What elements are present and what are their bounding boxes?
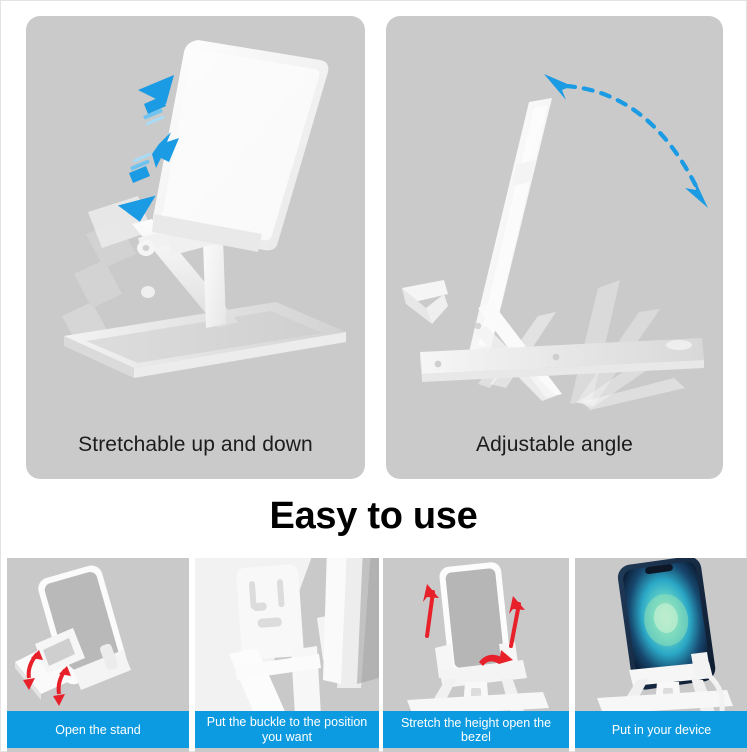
step-label-1: Put the buckle to the position you want <box>195 711 379 748</box>
blue-arc-arrowheads <box>544 74 708 208</box>
step-label-2: Stretch the height open the bezel <box>383 711 569 748</box>
feature-caption-adjustable: Adjustable angle <box>386 433 723 457</box>
stand-folding-open-icon <box>7 558 189 716</box>
feature-panel-adjustable-angle: Adjustable angle <box>386 16 723 479</box>
blue-dashed-arc-double-arrow <box>566 86 696 186</box>
feature-panel-stretchable: Stretchable up and down <box>26 16 365 479</box>
feature-caption-stretchable: Stretchable up and down <box>26 433 365 457</box>
stand-with-phone-icon <box>575 558 747 716</box>
step-label-0: Open the stand <box>7 711 189 748</box>
stand-buckle-closeup-icon <box>195 558 379 716</box>
section-heading: Easy to use <box>1 495 746 538</box>
phone-stand-upright-icon <box>26 16 365 479</box>
step-label-3: Put in your device <box>575 711 747 748</box>
product-infographic: Stretchable up and down <box>0 0 747 752</box>
step-thumbnail-open-the-stand: Open the stand <box>7 558 189 752</box>
step-thumbnail-put-the-buckle: Put the buckle to the position you want <box>195 558 379 752</box>
stand-stretch-bezel-icon <box>383 558 569 716</box>
phone-stand-multi-angle-icon <box>386 16 723 479</box>
step-thumbnail-stretch-the-height: Stretch the height open the bezel <box>383 558 569 752</box>
step-thumbnail-put-in-your-device: Put in your device <box>575 558 747 752</box>
